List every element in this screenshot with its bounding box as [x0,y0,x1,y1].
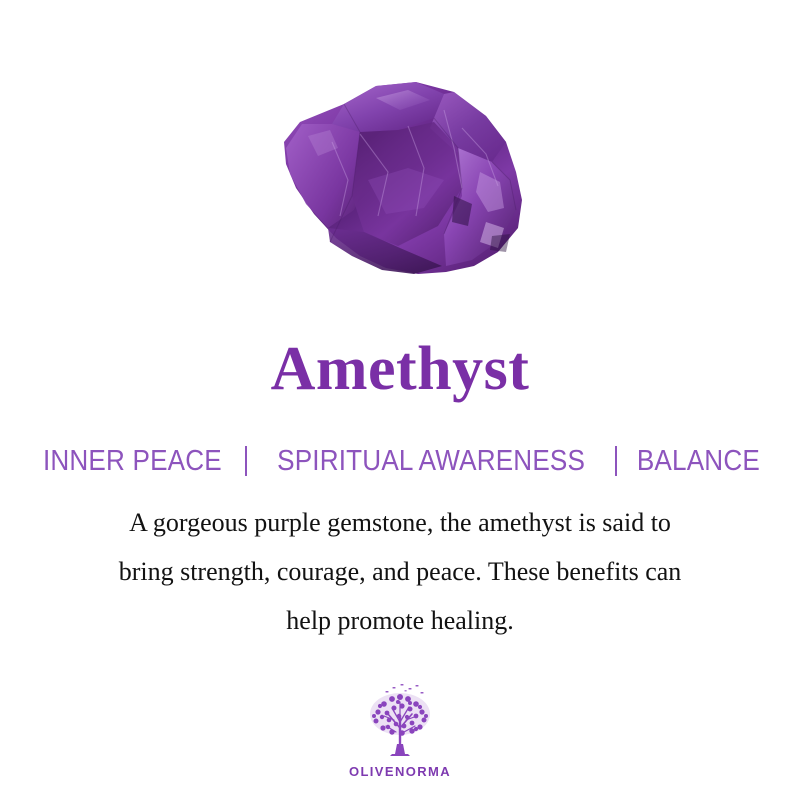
attribute-separator [245,446,247,476]
description-text: A gorgeous purple gemstone, the amethyst… [55,498,745,645]
attribute-balance: BALANCE [637,444,760,478]
amethyst-crystal-photo [248,76,552,304]
brand-logo: OLIVENORMA [0,682,800,779]
attribute-spiritual-awareness: SPIRITUAL AWARENESS [277,444,585,478]
attribute-list: INNER PEACE SPIRITUAL AWARENESS BALANCE [0,444,800,478]
attribute-separator [615,446,617,476]
crystal-inclusion-2 [490,234,510,252]
description-line: help promote healing. [55,596,745,645]
brand-name: OLIVENORMA [349,764,451,779]
attribute-inner-peace: INNER PEACE [43,444,222,478]
tree-trunk [395,744,405,754]
gemstone-info-card: Amethyst INNER PEACE SPIRITUAL AWARENESS… [0,0,800,800]
crystal-image-container [0,0,800,320]
description-line: bring strength, courage, and peace. Thes… [55,547,745,596]
tree-of-life-icon [354,682,446,762]
tree-roots [390,754,410,756]
page-title: Amethyst [0,336,800,402]
tree-birds [385,684,424,694]
description-line: A gorgeous purple gemstone, the amethyst… [55,498,745,547]
